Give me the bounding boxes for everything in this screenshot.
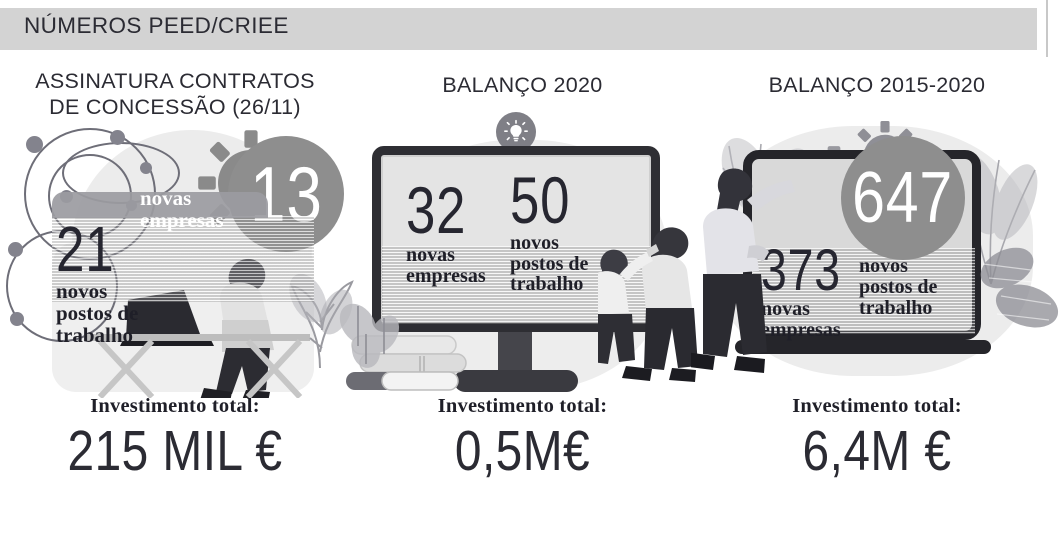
panel-balanco-2020: BALANÇO 2020 [350, 60, 695, 540]
person-with-tablet-illustration [691, 154, 809, 390]
secondary-label-line3: trabalho [56, 325, 206, 347]
investment-block-balanco-2015-2020: Investimento total: 6,4M € [695, 395, 1059, 482]
investment-value: 215 MIL € [28, 422, 322, 482]
investment-value: 0,5M€ [378, 422, 668, 482]
orbit-dot [140, 162, 152, 174]
panel-balanco-2015-2020: BALANÇO 2015-2020 [695, 60, 1059, 540]
orbit-dot [26, 136, 43, 153]
investment-label: Investimento total: [350, 395, 695, 418]
right-divider-rule [1046, 0, 1048, 57]
orbit-dot [110, 130, 125, 145]
orbit-dot [10, 312, 24, 326]
highlight-label-line1: novas [140, 188, 270, 210]
illustration-balanco-2015-2020: 647 novos postos de trabalho 373 novas e… [695, 122, 1059, 397]
panel-title-assinatura: ASSINATURA CONTRATOS DE CONCESSÃO (26/11… [0, 68, 350, 120]
illustration-balanco-2020: 32 novas empresas 50 novos postos de tra… [350, 98, 695, 398]
investment-block-balanco-2020: Investimento total: 0,5M€ [350, 395, 695, 482]
highlight-value: 32 [406, 180, 492, 241]
panel-title-balanco-2015-2020: BALANÇO 2015-2020 [695, 72, 1059, 98]
highlight-value: 647 [853, 162, 954, 234]
panel-assinatura-contratos: ASSINATURA CONTRATOS DE CONCESSÃO (26/11… [0, 60, 350, 540]
plant-leaves-icon [332, 294, 412, 374]
secondary-label-line2: postos de [56, 303, 206, 325]
secondary-value: 21 [56, 220, 176, 279]
highlight-label-line1: novas [406, 245, 514, 266]
secondary-stat-group: 21 novos postos de trabalho [56, 220, 206, 346]
infographic-page: NÚMEROS PEED/CRIEE ASSINATURA CONTRATOS … [0, 0, 1059, 549]
panel-title-balanco-2020: BALANÇO 2020 [350, 72, 695, 98]
investment-block-assinatura: Investimento total: 215 MIL € [0, 395, 350, 482]
illustration-assinatura: 13 [0, 122, 350, 397]
plant-leaves-icon [971, 232, 1059, 362]
investment-label: Investimento total: [0, 395, 350, 418]
page-title: NÚMEROS PEED/CRIEE [24, 13, 289, 39]
orbit-dot [8, 242, 23, 257]
highlight-label-line2: empresas [406, 266, 514, 287]
highlight-circle-647: 647 [841, 136, 965, 260]
investment-label: Investimento total: [695, 395, 1059, 418]
highlight-stat-group: 32 novas empresas [406, 180, 514, 286]
investment-value: 6,4M € [724, 422, 1030, 482]
lightbulb-icon [503, 119, 529, 145]
